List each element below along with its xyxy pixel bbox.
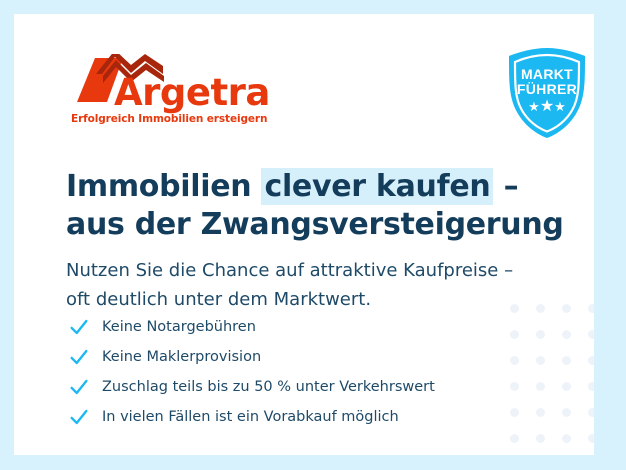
- benefits-list: Keine NotargebührenKeine Maklerprovision…: [68, 312, 538, 432]
- badge-line-2: FÜHRER: [517, 82, 577, 97]
- list-item: Keine Maklerprovision: [68, 342, 538, 372]
- badge-text-block: MARKT FÜHRER ★★★: [503, 46, 591, 140]
- market-leader-badge: MARKT FÜHRER ★★★: [503, 46, 591, 140]
- decoration-dot: [588, 330, 594, 339]
- list-item-label: Keine Maklerprovision: [102, 348, 261, 366]
- star-icon-center: ★: [540, 98, 554, 115]
- check-icon: [68, 376, 90, 398]
- advert-frame: Argetra Erfolgreich Immobilien ersteiger…: [0, 0, 626, 470]
- headline-part-1: Immobilien: [66, 169, 261, 204]
- star-icon-right: ★: [554, 99, 566, 114]
- headline-highlight: clever kaufen: [261, 168, 493, 205]
- decoration-dot: [588, 434, 594, 443]
- list-item: In vielen Fällen ist ein Vorabkauf mögli…: [68, 402, 538, 432]
- subheadline-line-1: Nutzen Sie die Chance auf attraktive Kau…: [66, 260, 513, 281]
- check-icon: [68, 316, 90, 338]
- page-title: Immobilien clever kaufen –aus der Zwangs…: [66, 168, 566, 244]
- headline-line-2: aus der Zwangsversteigerung: [66, 207, 564, 242]
- decoration-dot: [562, 330, 571, 339]
- argetra-logo[interactable]: Argetra Erfolgreich Immobilien ersteiger…: [69, 54, 259, 124]
- decoration-dot: [588, 408, 594, 417]
- list-item-label: In vielen Fällen ist ein Vorabkauf mögli…: [102, 408, 399, 426]
- decoration-dot: [562, 382, 571, 391]
- list-item: Zuschlag teils bis zu 50 % unter Verkehr…: [68, 372, 538, 402]
- decoration-dot: [536, 434, 545, 443]
- decoration-dot: [588, 304, 594, 313]
- badge-stars: ★★★: [528, 100, 566, 113]
- decoration-dot: [562, 434, 571, 443]
- star-icon-left: ★: [528, 99, 540, 114]
- subheadline: Nutzen Sie die Chance auf attraktive Kau…: [66, 256, 566, 314]
- check-icon: [68, 406, 90, 428]
- advert-card: Argetra Erfolgreich Immobilien ersteiger…: [14, 14, 594, 455]
- badge-line-1: MARKT: [521, 67, 573, 82]
- logo-wordmark: Argetra: [114, 74, 270, 111]
- list-item-label: Keine Notargebühren: [102, 318, 256, 336]
- list-item: Keine Notargebühren: [68, 312, 538, 342]
- list-item-label: Zuschlag teils bis zu 50 % unter Verkehr…: [102, 378, 435, 396]
- check-icon: [68, 346, 90, 368]
- decoration-dot: [562, 408, 571, 417]
- logo-tagline: Erfolgreich Immobilien ersteigern: [71, 113, 267, 125]
- decoration-dot: [510, 434, 519, 443]
- decoration-dot: [562, 356, 571, 365]
- decoration-dot: [588, 356, 594, 365]
- headline-part-2: –: [493, 169, 518, 204]
- subheadline-line-2: oft deutlich unter dem Marktwert.: [66, 289, 371, 310]
- decoration-dot: [588, 382, 594, 391]
